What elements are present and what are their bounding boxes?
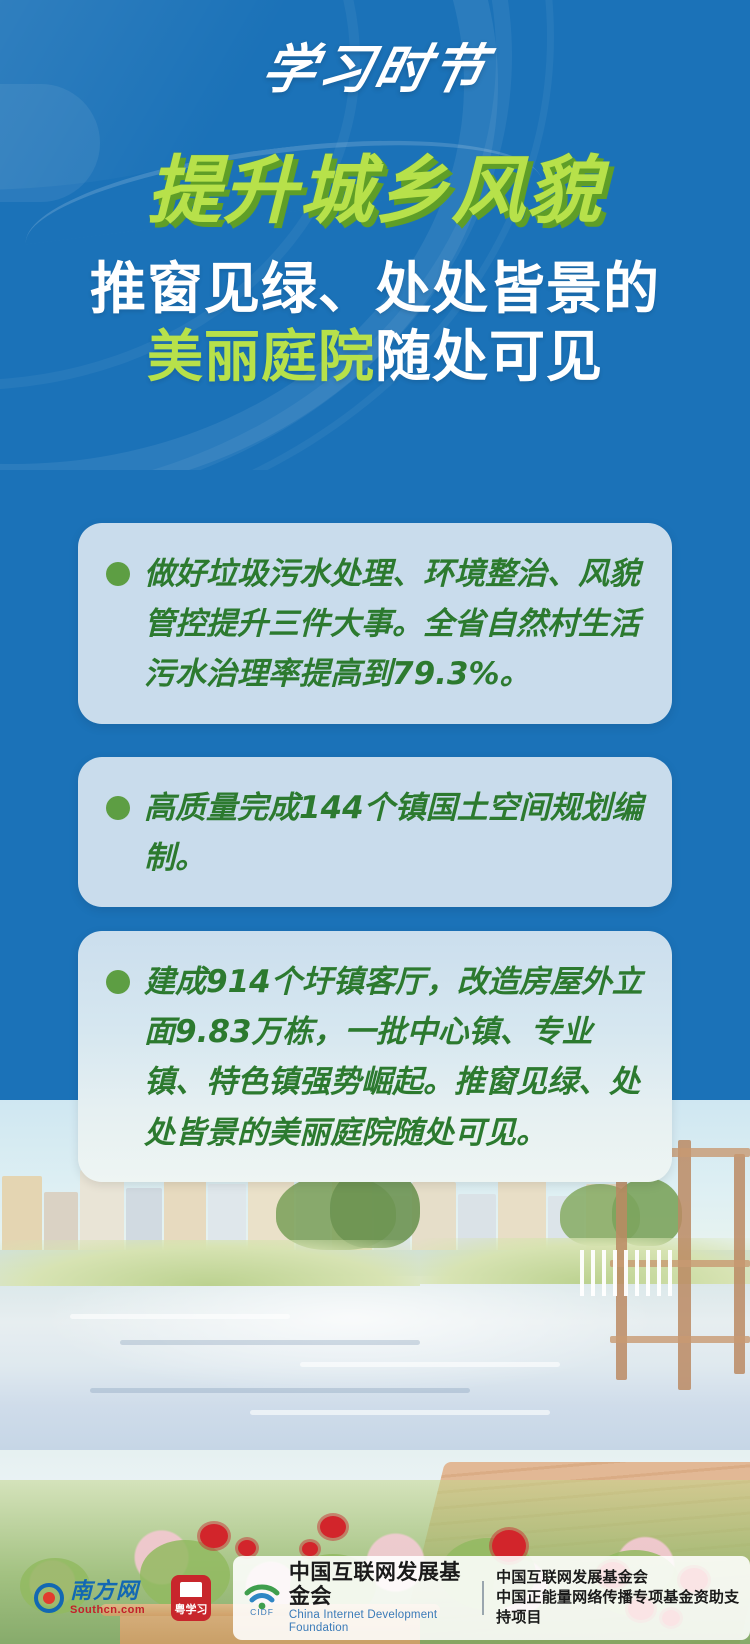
logo-cidf[interactable]: CIDF 中国互联网发展基金会 China Internet Developme… (233, 1556, 750, 1641)
headline-block: 提升城乡风貌 推窗见绿、处处皆景的 美丽庭院随处可见 (0, 152, 750, 391)
book-icon (180, 1582, 202, 1597)
cidf-wifi-icon: CIDF (243, 1581, 281, 1615)
poster-root: 学习时节 提升城乡风貌 推窗见绿、处处皆景的 美丽庭院随处可见 (0, 0, 750, 1644)
headline-sub-line1: 推窗见绿、处处皆景的 (0, 256, 750, 323)
footer-divider (482, 1581, 484, 1615)
headline-sub-highlight: 美丽庭院 (147, 325, 375, 390)
info-card-2-text: 高质量完成144个镇国土空间规划编制。 (144, 783, 644, 883)
logo-yuexuexi[interactable]: 粤学习 (171, 1575, 211, 1621)
info-card-3-text: 建成914个圩镇客厅，改造房屋外立面9.83万栋，一批中心镇、专业镇、特色镇强势… (144, 957, 644, 1158)
brand-logo: 学习时节 (0, 44, 750, 96)
yuexuexi-label: 粤学习 (175, 1601, 208, 1617)
brand-logo-text: 学习时节 (257, 43, 493, 96)
headline-sub: 推窗见绿、处处皆景的 美丽庭院随处可见 (0, 256, 750, 390)
info-card-1: 做好垃圾污水处理、环境整治、风貌管控提升三件大事。全省自然村生活污水治理率提高到… (78, 523, 672, 724)
sponsor-text: 中国互联网发展基金会 中国正能量网络传播专项基金资助支持项目 (496, 1568, 740, 1629)
photo-white-fence (580, 1250, 676, 1296)
info-card-3: 建成914个圩镇客厅，改造房屋外立面9.83万栋，一批中心镇、专业镇、特色镇强势… (78, 931, 672, 1182)
sponsor-line-1: 中国互联网发展基金会 (496, 1568, 740, 1588)
southcn-cn-label: 南方网 (70, 1580, 145, 1602)
info-card-1-text: 做好垃圾污水处理、环境整治、风貌管控提升三件大事。全省自然村生活污水治理率提高到… (144, 549, 644, 700)
footer-logo-strip: 南方网 Southcn.com 粤学习 CIDF 中国互联网发展基金会 Chin… (0, 1568, 750, 1628)
photo-bank-left (0, 1240, 420, 1286)
bullet-dot-icon (106, 796, 130, 820)
photo-water-sheen (40, 1276, 660, 1396)
cidf-cn-label: 中国互联网发展基金会 (289, 1561, 471, 1609)
logo-southcn[interactable]: 南方网 Southcn.com (34, 1580, 145, 1616)
info-card-2: 高质量完成144个镇国土空间规划编制。 (78, 757, 672, 907)
cidf-en-label: China Internet Development Foundation (289, 1609, 471, 1635)
southcn-globe-icon (34, 1583, 64, 1613)
sponsor-line-2: 中国正能量网络传播专项基金资助支持项目 (496, 1588, 740, 1629)
southcn-en-label: Southcn.com (70, 1605, 145, 1616)
headline-sub-line2: 美丽庭院随处可见 (0, 324, 750, 391)
bullet-dot-icon (106, 970, 130, 994)
headline-sub-rest: 随处可见 (375, 325, 603, 390)
svg-text:CIDF: CIDF (250, 1607, 274, 1615)
bullet-dot-icon (106, 562, 130, 586)
headline-main: 提升城乡风貌 (0, 152, 750, 230)
